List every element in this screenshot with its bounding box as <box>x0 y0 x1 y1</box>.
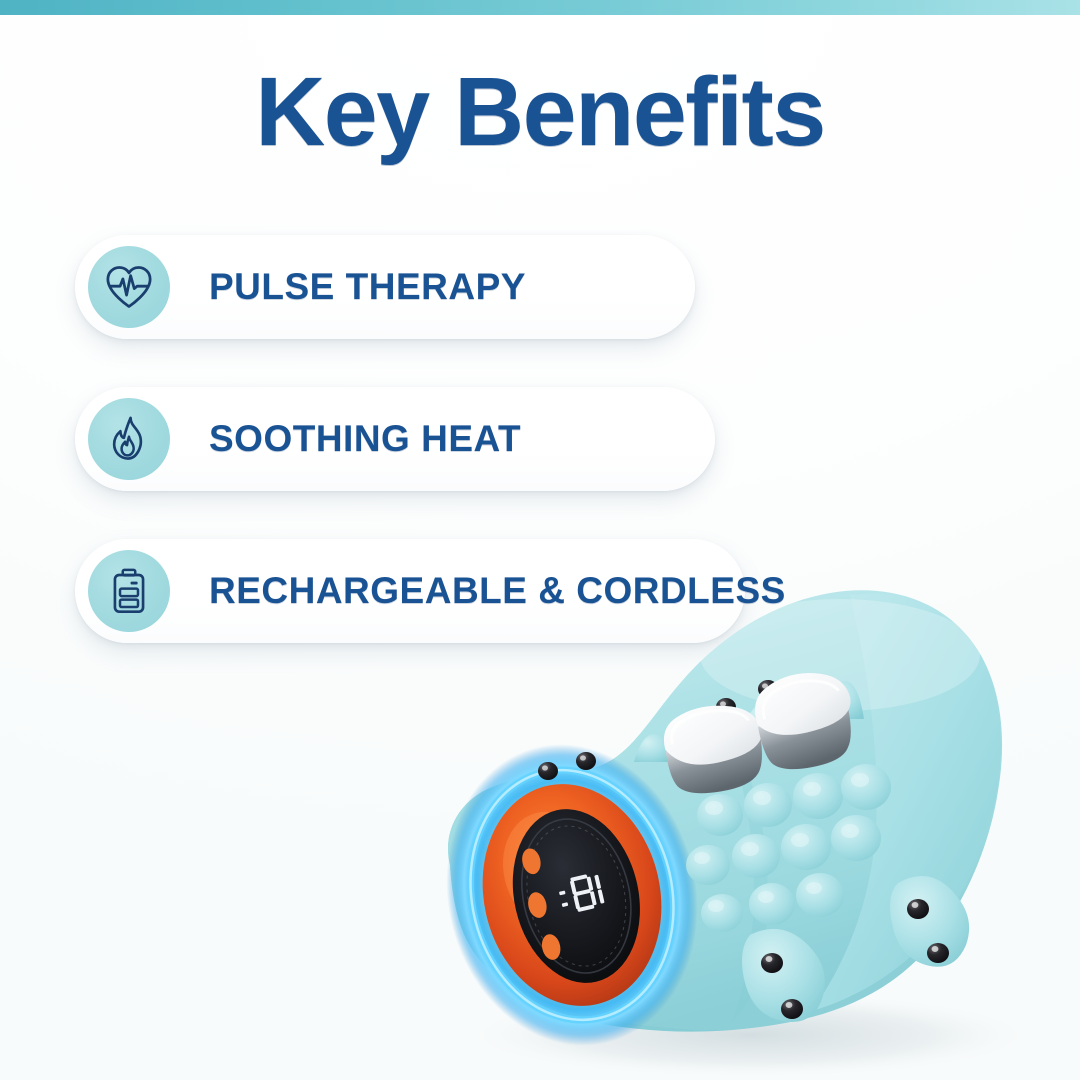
benefit-card-pulse-therapy[interactable]: PULSE THERAPY <box>75 235 695 339</box>
heart-pulse-icon <box>88 246 170 328</box>
top-accent-bar <box>0 0 1080 15</box>
benefit-label: PULSE THERAPY <box>209 266 526 308</box>
benefit-label: SOOTHING HEAT <box>209 418 521 460</box>
product-image-neck-massager <box>420 565 1080 1080</box>
page-title: Key Benefits <box>0 62 1080 162</box>
flame-icon <box>88 398 170 480</box>
benefit-card-soothing-heat[interactable]: SOOTHING HEAT <box>75 387 715 491</box>
battery-icon <box>88 550 170 632</box>
key-benefits-page: Key Benefits PULSE THERAPY SOOTHING HEAT <box>0 0 1080 1080</box>
